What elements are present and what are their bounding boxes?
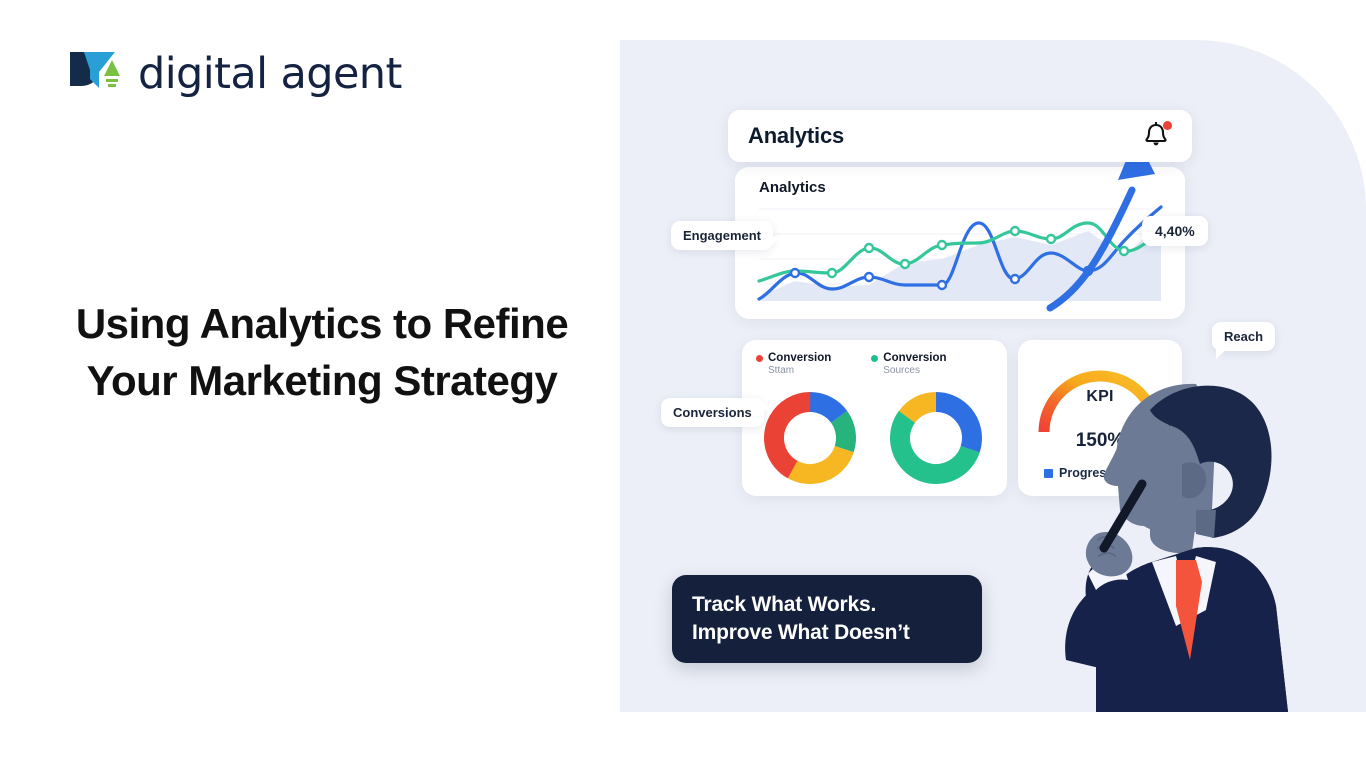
conversion-donuts-card[interactable]: Conversion Sttam Conversion Sources: [742, 340, 1007, 496]
digital-agent-logo-mark: [68, 48, 126, 100]
pill-conversions[interactable]: Conversions: [661, 398, 764, 427]
donut-legend-2: Conversion Sources: [871, 352, 946, 376]
legend-dot-icon: [756, 355, 763, 362]
brand-logo[interactable]: digital agent: [68, 48, 402, 100]
donut-chart-conversion-sources[interactable]: [886, 388, 986, 488]
chart-area-fill: [759, 223, 1161, 301]
analytics-header-title: Analytics: [748, 123, 844, 149]
callout-banner: Track What Works. Improve What Doesn’t: [672, 575, 982, 663]
page-title: Using Analytics to Refine Your Marketing…: [62, 296, 582, 409]
donut-charts: [742, 388, 1007, 492]
page-title-line-1: Using Analytics to Refine: [62, 296, 582, 351]
analytics-card-subtitle: Analytics: [759, 179, 826, 196]
donut-legend-group: Conversion Sttam Conversion Sources: [756, 352, 996, 376]
slide-canvas: digital agent Using Analytics to Refine …: [0, 0, 1366, 768]
legend-dot-icon: [871, 355, 878, 362]
donut-chart-conversion-sttam[interactable]: [760, 388, 860, 488]
businessman-illustration: [1000, 360, 1366, 712]
analytics-chart-card[interactable]: Analytics: [735, 167, 1185, 319]
callout-banner-line-2: Improve What Doesn’t: [692, 619, 982, 647]
donut-legend-2-title: Conversion: [883, 352, 946, 364]
brand-name: digital agent: [138, 53, 402, 96]
pill-engagement[interactable]: Engagement: [671, 221, 773, 250]
donut-legend-1: Conversion Sttam: [756, 352, 831, 376]
page-title-line-2: Your Marketing Strategy: [62, 353, 582, 408]
line-chart[interactable]: [759, 201, 1161, 307]
pill-reach[interactable]: Reach: [1212, 322, 1275, 351]
donut-legend-1-subtitle: Sttam: [768, 365, 831, 376]
callout-banner-line-1: Track What Works.: [692, 591, 982, 619]
analytics-header-card[interactable]: Analytics: [728, 110, 1192, 162]
donut-legend-1-title: Conversion: [768, 352, 831, 364]
notification-bell-icon[interactable]: [1144, 122, 1170, 150]
pill-metric-value[interactable]: 4,40%: [1142, 216, 1208, 246]
donut-legend-2-subtitle: Sources: [883, 365, 946, 376]
notification-badge-dot: [1163, 121, 1172, 130]
